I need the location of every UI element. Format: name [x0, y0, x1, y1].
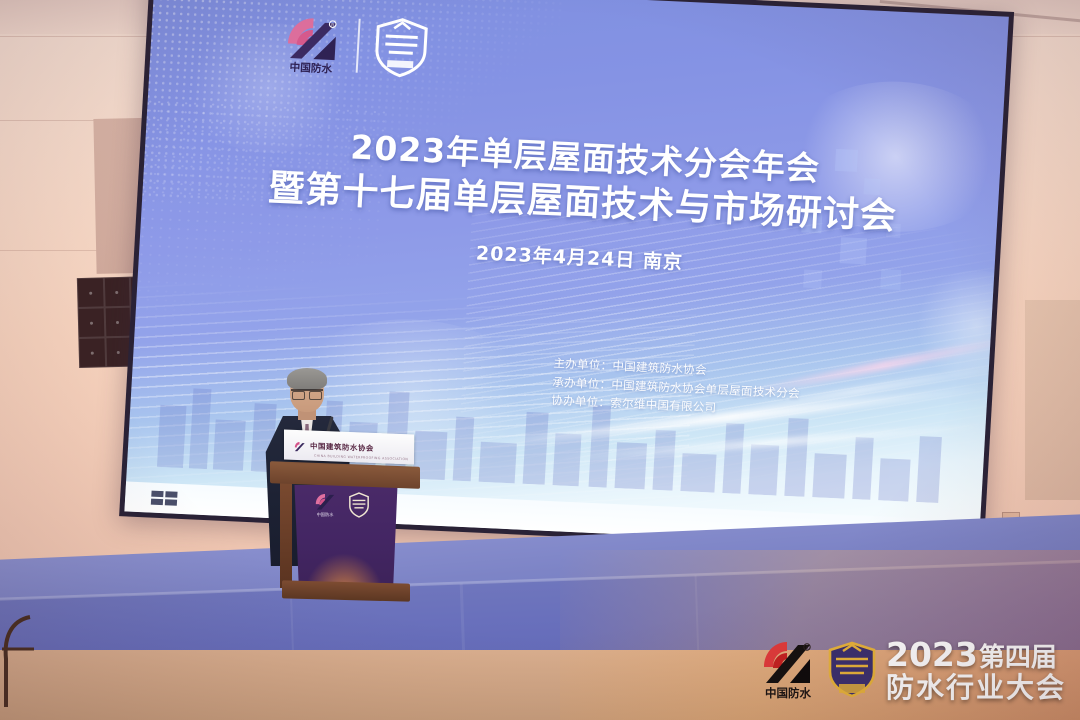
- screen-bottom-marks: [151, 491, 178, 506]
- conference-shield-emblem-icon: [348, 492, 370, 518]
- china-waterproof-logo-icon: 中国防水: [314, 492, 336, 518]
- podium-logo-row: 中国防水: [314, 492, 370, 518]
- podium-base: [282, 580, 410, 601]
- watermark-line-2: 防水行业大会: [886, 674, 1066, 702]
- podium-sign: 中国建筑防水协会 CHINA BUILDING WATERPROOFING AS…: [284, 430, 414, 465]
- wall-panel-right: [1025, 300, 1080, 500]
- screenshot-root: R 中国防水: [0, 0, 1080, 720]
- podium-sign-text: 中国建筑防水协会: [310, 440, 374, 453]
- podium-sign-subtext: CHINA BUILDING WATERPROOFING ASSOCIATION: [314, 454, 408, 462]
- svg-text:R: R: [806, 645, 809, 650]
- watermark-year: 2023: [886, 638, 978, 671]
- china-waterproof-logo-icon: [293, 438, 306, 451]
- svg-text:R: R: [331, 22, 334, 28]
- chair-leg: [0, 615, 40, 710]
- podium-top-surface: [270, 461, 420, 489]
- organizer-list: 主办单位：中国建筑防水协会 承办单位：中国建筑防水协会单层屋面技术分会 协办单位…: [551, 354, 802, 421]
- glasses-icon: [291, 389, 323, 398]
- china-waterproof-logo-icon: R 中国防水: [760, 639, 818, 701]
- conference-shield-emblem-icon: [826, 639, 878, 701]
- svg-text:中国防水: 中国防水: [289, 61, 333, 76]
- conference-shield-emblem-icon: [371, 15, 430, 79]
- china-waterproof-logo-icon: R 中国防水: [279, 11, 344, 76]
- podium-side: [280, 480, 292, 588]
- watermark-text: 2023 第四届 防水行业大会: [886, 638, 1066, 702]
- podium: 中国防水 中国建筑防水协会 CHINA BUILDING WATERPROOF: [262, 430, 427, 605]
- conference-watermark: R 中国防水 2023 第四届 防水行业大会: [760, 638, 1066, 702]
- watermark-edition: 第四届: [979, 645, 1057, 671]
- watermark-line-1: 2023 第四届: [886, 638, 1066, 671]
- svg-text:中国防水: 中国防水: [765, 686, 811, 700]
- logo-divider: [356, 19, 361, 73]
- speaker-hair: [287, 368, 327, 390]
- svg-text:中国防水: 中国防水: [317, 511, 335, 518]
- screen-logo-row: R 中国防水: [279, 11, 430, 80]
